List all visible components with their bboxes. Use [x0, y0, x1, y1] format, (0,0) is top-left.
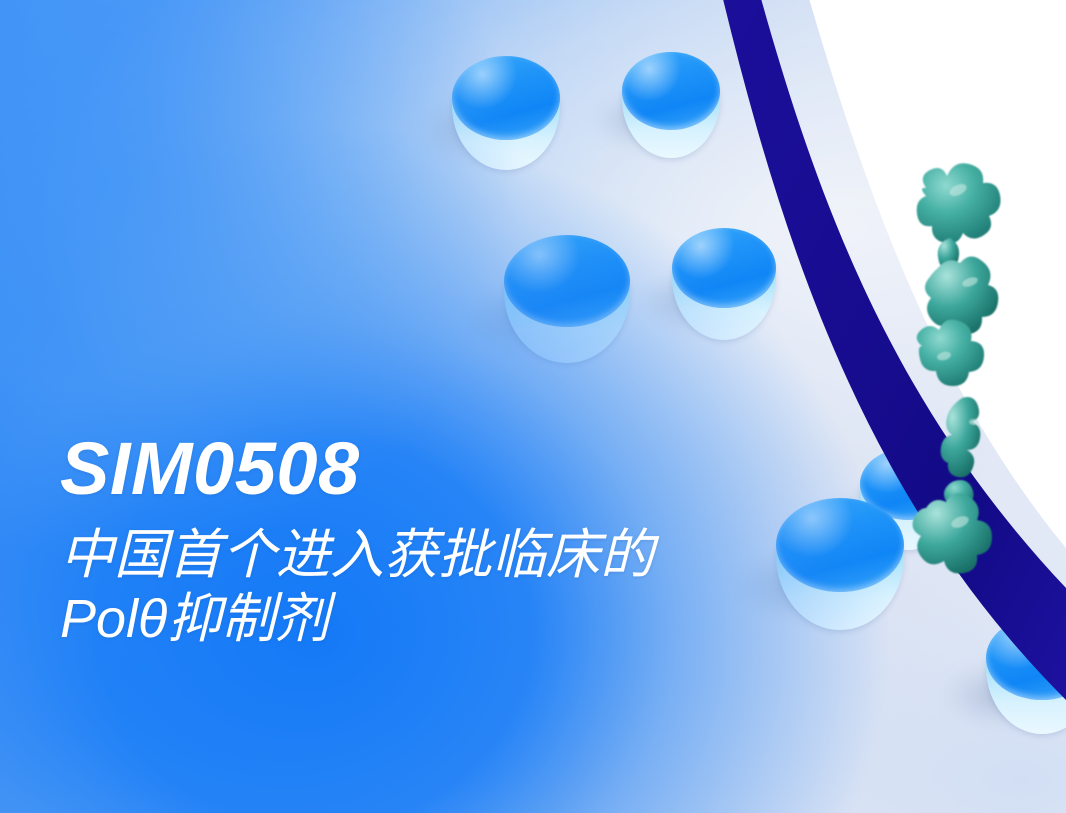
slide-canvas: SIM0508 中国首个进入获批临床的 Polθ抑制剂 — [0, 0, 1066, 813]
protein-domain-1 — [917, 163, 1001, 243]
subtitle-line-2: Polθ抑制剂 — [60, 588, 654, 652]
protein-domains — [913, 163, 1001, 573]
subtitle: 中国首个进入获批临床的 Polθ抑制剂 — [60, 524, 654, 651]
headline-block: SIM0508 中国首个进入获批临床的 Polθ抑制剂 — [60, 432, 654, 651]
protein-linker-2 — [941, 397, 981, 477]
protein-surface-model — [886, 160, 1066, 580]
subtitle-line-1: 中国首个进入获批临床的 — [60, 524, 654, 588]
product-name: SIM0508 — [60, 432, 654, 506]
protein-domain-5 — [913, 493, 992, 573]
